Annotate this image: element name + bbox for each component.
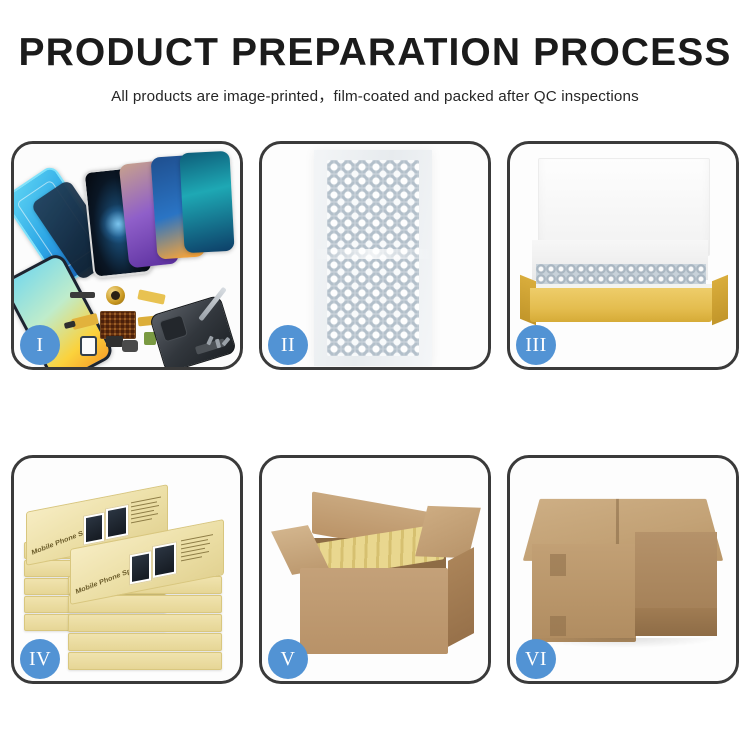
small-component-3-icon [122,340,138,352]
page-subtitle: All products are image-printed，film-coat… [0,73,750,106]
stacked-box-slab [68,614,222,632]
stacked-box-slab [68,652,222,670]
speaker-part-icon [106,286,125,305]
box-text-lines-back [131,497,161,527]
box-screen-image-1 [83,511,105,545]
small-component-1-icon [80,336,97,356]
step-badge-4: IV [20,639,60,679]
step-badge-5: V [268,639,308,679]
carton-tape-mark-top [550,554,566,576]
carton-front-face [300,568,448,654]
copper-mesh-part-icon [100,311,136,339]
open-carton-icon [282,492,470,660]
box-text-lines-front [181,534,213,564]
step-panel-5[interactable]: V [259,455,491,684]
box-screen-image-2 [152,541,177,579]
step-badge-1: I [20,325,60,365]
inner-box-right-side [712,275,728,325]
carton-front-face [532,544,636,642]
stacked-box-slab [68,633,222,651]
screws-icon [208,336,230,350]
product-preparation-process-page: PRODUCT PREPARATION PROCESS All products… [0,0,750,750]
step-panel-4[interactable]: Mobile Phone Spare Parts Mobile Phone Sp… [11,455,243,684]
step-panel-1[interactable]: I [11,141,243,370]
process-steps-grid: I II III [11,141,739,684]
retail-box-stack-icon: Mobile Phone Spare Parts Mobile Phone Sp… [20,480,238,670]
antenna-bar-part-icon [70,292,95,298]
box-screen-image-2 [105,504,129,541]
small-component-2-icon [106,336,123,347]
box-screen-image-1 [129,550,152,585]
carton-tape-mark-bottom [550,616,566,636]
step-panel-6[interactable]: VI [507,455,739,684]
step-badge-2: II [268,325,308,365]
bubble-wrap-icon [314,150,432,366]
step-panel-3[interactable]: III [507,141,739,370]
teal-phone-screen-icon [179,151,234,253]
bubble-wrap-highlight [314,249,432,259]
inner-box-front-wall [530,288,712,322]
step-panel-2[interactable]: II [259,141,491,370]
step-badge-3: III [516,325,556,365]
carton-ground-shadow [532,638,718,648]
step-badge-6: VI [516,639,556,679]
page-title: PRODUCT PREPARATION PROCESS [0,0,750,73]
sealed-carton-icon [528,488,720,658]
carton-side-lower-face [635,608,717,636]
carton-side-face [448,547,474,647]
header: PRODUCT PREPARATION PROCESS All products… [0,0,750,106]
